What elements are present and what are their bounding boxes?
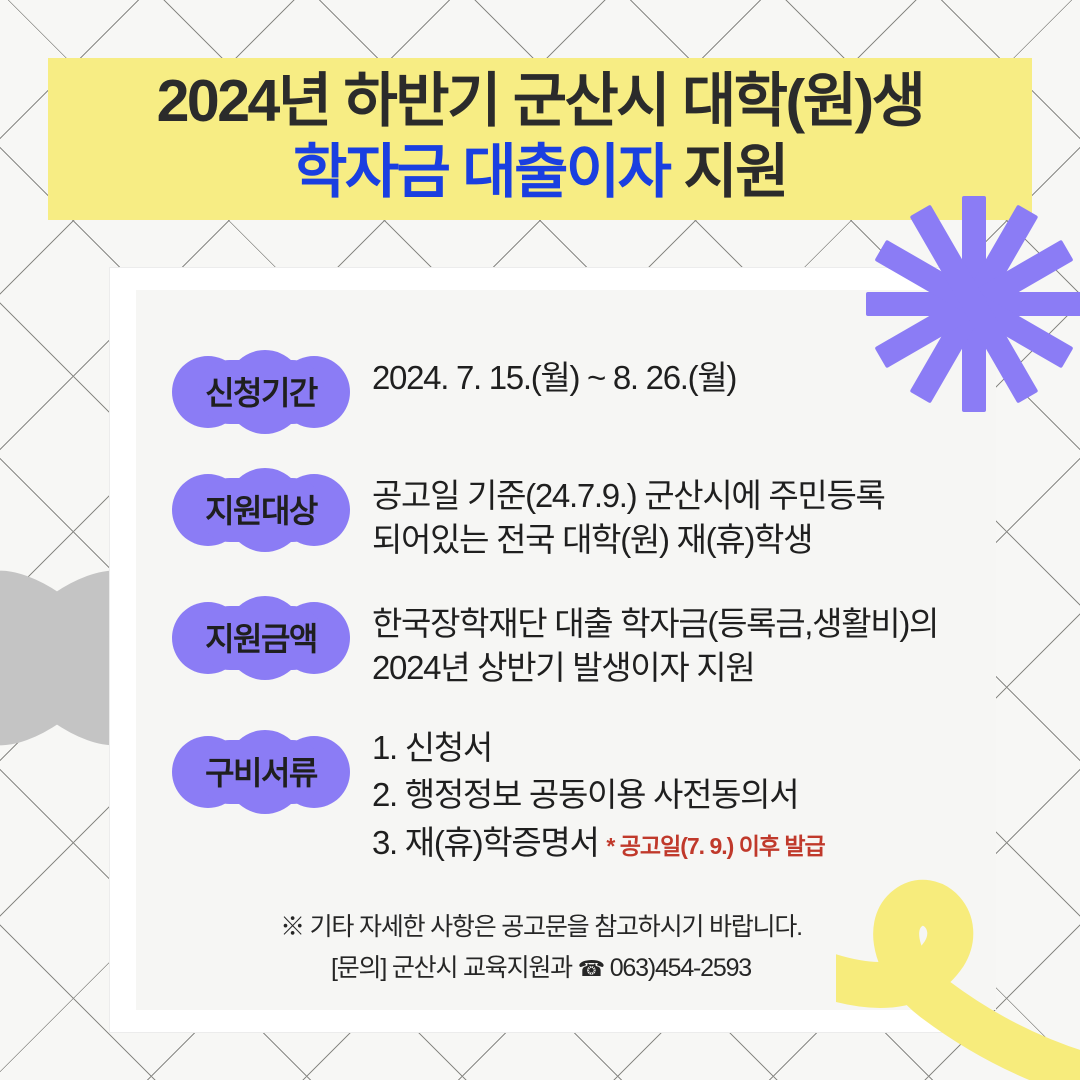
- title-line-2-rest: 지원: [669, 139, 786, 205]
- content-card: 신청기간 2024. 7. 15.(월) ~ 8. 26.(월) 지원대상 공고…: [110, 268, 972, 1032]
- info-text-line: 2024년 상반기 발생이자 지원: [372, 646, 1002, 690]
- info-text-line: 2024. 7. 15.(월) ~ 8. 26.(월): [372, 356, 1002, 400]
- info-row-required-documents: 구비서류 1. 신청서 2. 행정정보 공동이용 사전동의서 3. 재(휴)학증…: [172, 724, 1002, 868]
- document-list-item: 1. 신청서: [372, 724, 1002, 772]
- info-row-support-amount: 지원금액 한국장학재단 대출 학자금(등록금,생활비)의 2024년 상반기 발…: [172, 596, 1002, 690]
- contact-phone: 063)454-2593: [610, 954, 751, 982]
- info-rows: 신청기간 2024. 7. 15.(월) ~ 8. 26.(월) 지원대상 공고…: [172, 350, 1002, 867]
- info-text-line: 공고일 기준(24.7.9.) 군산시에 주민등록: [372, 474, 1002, 518]
- title-highlight: 학자금 대출이자: [293, 139, 669, 205]
- footer-contact: [문의] 군산시 교육지원과 ☎ 063)454-2593: [110, 948, 972, 989]
- contact-label: [문의] 군산시 교육지원과: [331, 954, 572, 982]
- info-row-body: 1. 신청서 2. 행정정보 공동이용 사전동의서 3. 재(휴)학증명서 * …: [372, 724, 1002, 868]
- badge-support-amount: 지원금액: [172, 596, 350, 680]
- title-banner: 2024년 하반기 군산시 대학(원)생 학자금 대출이자 지원: [48, 58, 1032, 220]
- document-list-item: 2. 행정정보 공동이용 사전동의서: [372, 771, 1002, 819]
- badge-eligibility: 지원대상: [172, 468, 350, 552]
- title-line-2: 학자금 대출이자 지원: [293, 137, 787, 208]
- info-row-body: 한국장학재단 대출 학자금(등록금,생활비)의 2024년 상반기 발생이자 지…: [372, 596, 1002, 690]
- telephone-icon: ☎: [578, 956, 604, 981]
- document-list-item: 3. 재(휴)학증명서 * 공고일(7. 9.) 이후 발급: [372, 819, 1002, 867]
- title-line-1: 2024년 하반기 군산시 대학(원)생: [157, 66, 924, 137]
- badge-label: 지원금액: [172, 596, 350, 680]
- badge-required-documents: 구비서류: [172, 730, 350, 814]
- badge-label: 지원대상: [172, 468, 350, 552]
- info-row-body: 공고일 기준(24.7.9.) 군산시에 주민등록 되어있는 전국 대학(원) …: [372, 468, 1002, 562]
- footer-note: ※ 기타 자세한 사항은 공고문을 참고하시기 바랍니다.: [110, 907, 972, 948]
- badge-application-period: 신청기간: [172, 350, 350, 434]
- poster-canvas: 2024년 하반기 군산시 대학(원)생 학자금 대출이자 지원: [0, 0, 1080, 1080]
- badge-label: 신청기간: [172, 350, 350, 434]
- info-text-line: 한국장학재단 대출 학자금(등록금,생활비)의: [372, 602, 1002, 646]
- info-row-application-period: 신청기간 2024. 7. 15.(월) ~ 8. 26.(월): [172, 350, 1002, 434]
- footer-notice: ※ 기타 자세한 사항은 공고문을 참고하시기 바랍니다. [문의] 군산시 교…: [110, 907, 972, 988]
- info-text-line: 되어있는 전국 대학(원) 재(휴)학생: [372, 518, 1002, 562]
- document-list-item-text: 3. 재(휴)학증명서: [372, 824, 599, 861]
- badge-label: 구비서류: [172, 730, 350, 814]
- info-row-body: 2024. 7. 15.(월) ~ 8. 26.(월): [372, 350, 1002, 400]
- document-note: * 공고일(7. 9.) 이후 발급: [606, 833, 824, 859]
- info-row-eligibility: 지원대상 공고일 기준(24.7.9.) 군산시에 주민등록 되어있는 전국 대…: [172, 468, 1002, 562]
